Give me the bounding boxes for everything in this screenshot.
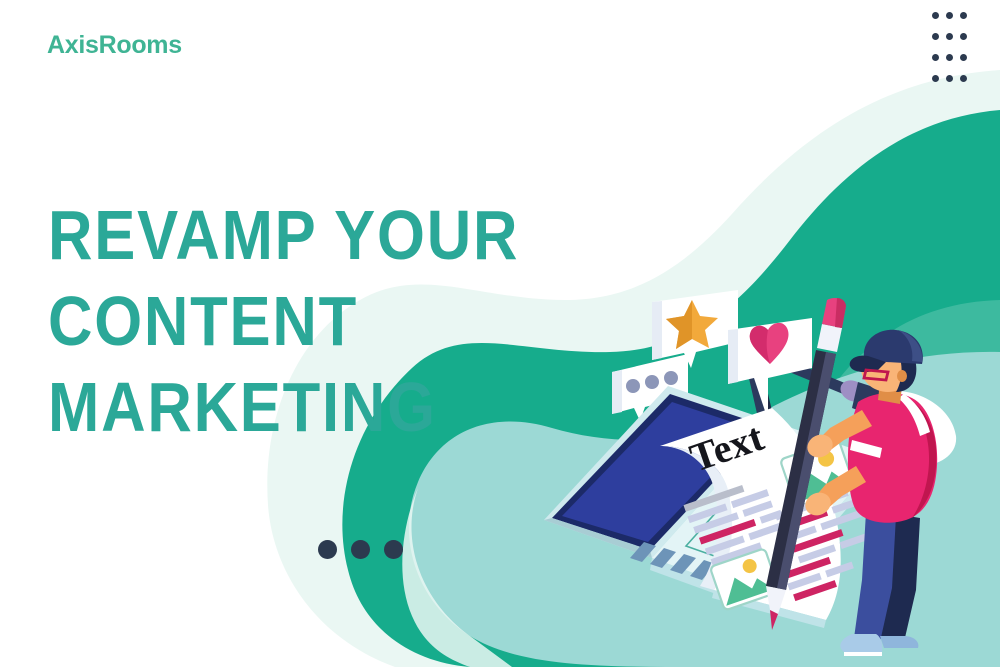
bubble-heart-shade	[728, 329, 738, 384]
grid-dot	[946, 75, 953, 82]
pencil-band	[817, 324, 842, 352]
person-shoe-sole	[844, 652, 882, 656]
three-dots-accent	[318, 540, 403, 559]
grid-dot	[946, 54, 953, 61]
headline-line-1: Revamp Your	[48, 192, 418, 278]
person-shoe-front	[840, 634, 882, 652]
grid-dot	[960, 54, 967, 61]
bubble-star-shade	[652, 301, 662, 360]
grid-dot	[932, 12, 939, 19]
banner-canvas: AxisRooms Revamp Your Content Marketing	[0, 0, 1000, 667]
grid-dot	[960, 75, 967, 82]
dot-grid	[932, 12, 974, 96]
grid-dot	[946, 33, 953, 40]
bubble-dots-shade	[612, 370, 622, 414]
chat-dots-icon	[664, 371, 678, 385]
brand-logo[interactable]: AxisRooms	[47, 33, 182, 58]
accent-dot	[351, 540, 370, 559]
grid-dot	[932, 75, 939, 82]
headline-line-3: Marketing	[48, 364, 418, 450]
accent-dot	[384, 540, 403, 559]
chat-dots-icon	[645, 375, 659, 389]
grid-dot	[932, 54, 939, 61]
headline-line-2: Content	[48, 278, 418, 364]
grid-dot	[960, 12, 967, 19]
grid-dot	[960, 33, 967, 40]
grid-dot	[946, 12, 953, 19]
content-marketing-illustration: Text	[500, 290, 1000, 667]
grid-dot	[932, 33, 939, 40]
person-ear	[897, 370, 907, 382]
person-shoe-back	[880, 636, 918, 648]
page-title: Revamp Your Content Marketing	[48, 192, 418, 450]
speech-bubble-star	[652, 290, 738, 368]
chat-dots-icon	[626, 379, 640, 393]
accent-dot	[318, 540, 337, 559]
